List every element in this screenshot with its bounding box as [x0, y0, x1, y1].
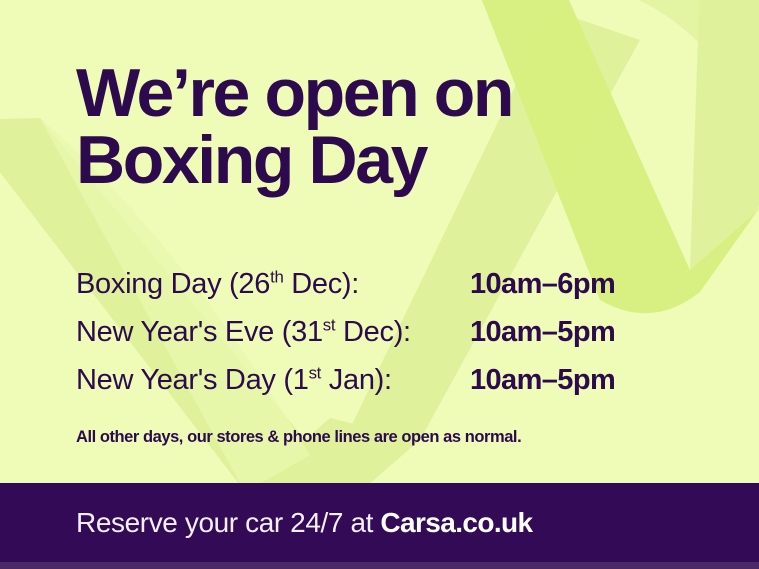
footer-bar: Reserve your car 24/7 at Carsa.co.uk — [0, 483, 759, 562]
hours-value: 10am–5pm — [470, 364, 615, 397]
hours-label-text: Boxing Day (26 — [76, 268, 270, 300]
hours-label-ordinal: st — [309, 363, 321, 382]
hours-label-text: New Year's Eve (31 — [76, 316, 323, 348]
table-row: Boxing Day (26th Dec): 10am–6pm — [76, 268, 716, 316]
footer-cta: Reserve your car 24/7 at Carsa.co.uk — [76, 507, 533, 539]
promo-poster: We’re open on Boxing Day Boxing Day (26t… — [0, 0, 759, 569]
footer-bottom-strip — [0, 562, 759, 569]
hours-label-suffix: Jan): — [321, 364, 392, 396]
table-row: New Year's Day (1st Jan): 10am–5pm — [76, 364, 716, 412]
hours-label-ordinal: st — [323, 315, 335, 334]
hours-value: 10am–5pm — [470, 316, 615, 349]
brand-url[interactable]: Carsa.co.uk — [380, 507, 532, 538]
hours-label-suffix: Dec): — [335, 316, 411, 348]
fineprint-note: All other days, our stores & phone lines… — [76, 428, 521, 447]
hours-label: New Year's Eve (31st Dec): — [76, 316, 470, 349]
hours-label-ordinal: th — [270, 267, 283, 286]
opening-hours-table: Boxing Day (26th Dec): 10am–6pm New Year… — [76, 268, 716, 412]
hours-label-suffix: Dec): — [284, 268, 360, 300]
hours-label: Boxing Day (26th Dec): — [76, 268, 470, 301]
page-title: We’re open on Boxing Day — [76, 60, 716, 193]
hours-label: New Year's Day (1st Jan): — [76, 364, 470, 397]
table-row: New Year's Eve (31st Dec): 10am–5pm — [76, 316, 716, 364]
footer-cta-lead: Reserve your car 24/7 at — [76, 507, 380, 538]
hours-label-text: New Year's Day (1 — [76, 364, 309, 396]
hours-value: 10am–6pm — [470, 268, 615, 301]
poster-content: We’re open on Boxing Day Boxing Day (26t… — [0, 0, 759, 483]
